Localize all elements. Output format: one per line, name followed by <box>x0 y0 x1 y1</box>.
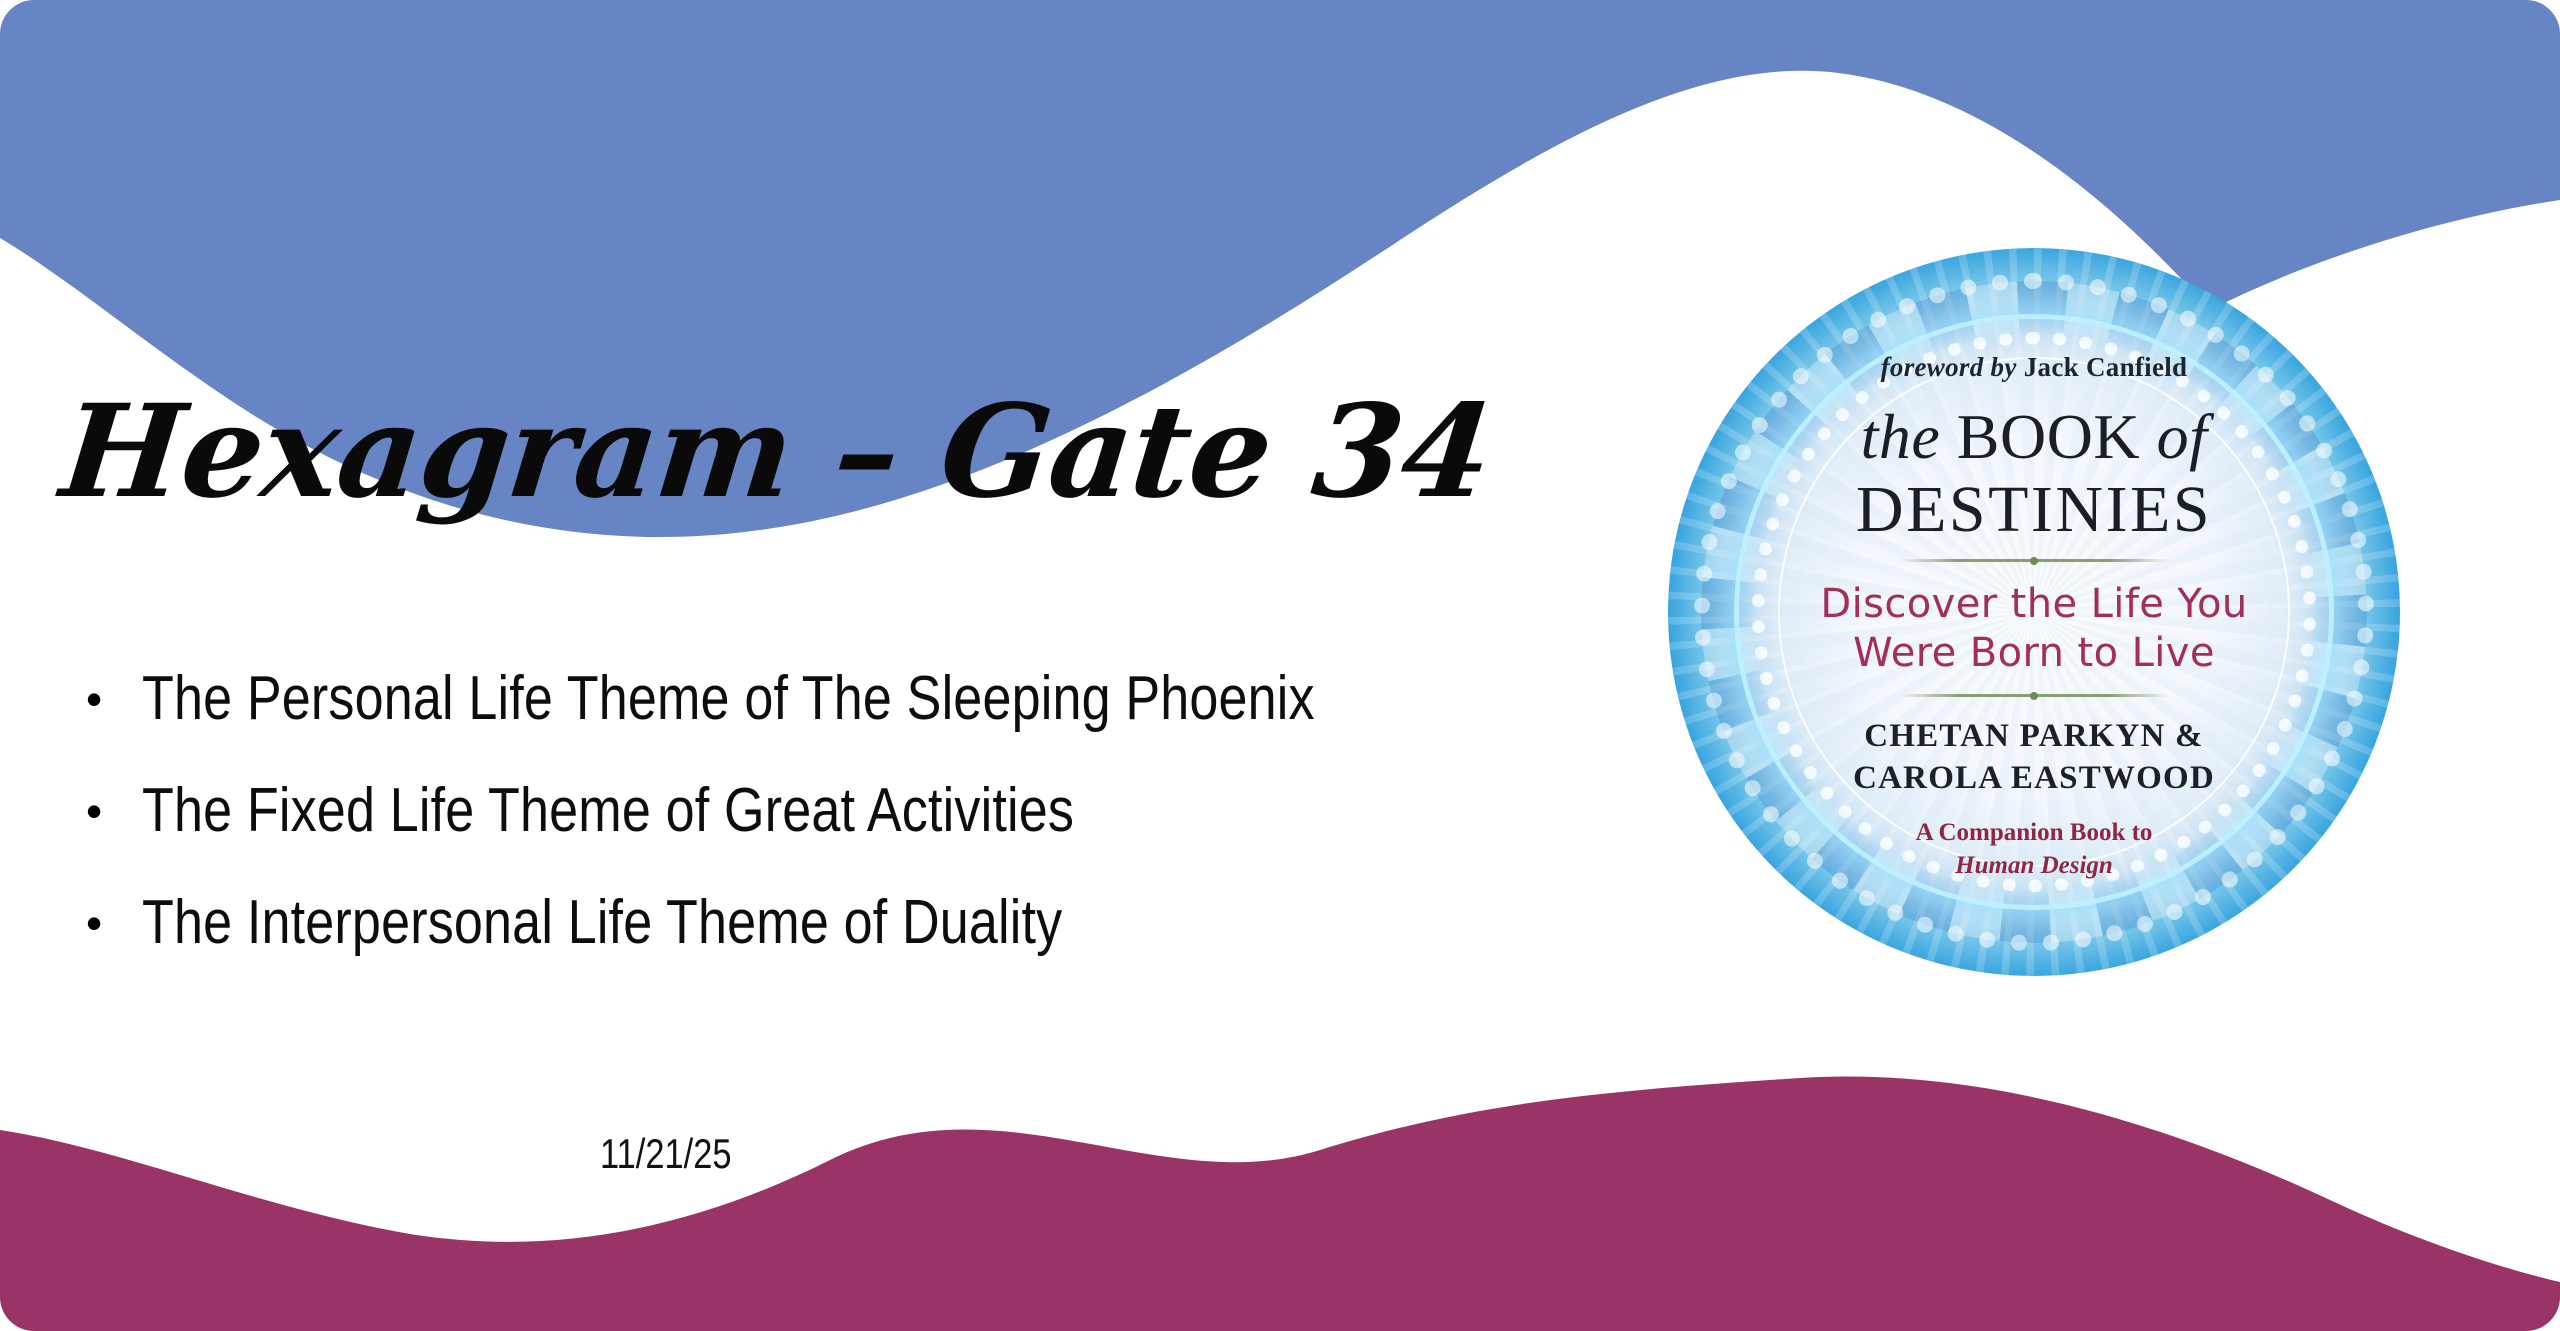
book-foreword-prefix: foreword by <box>1881 352 2017 382</box>
book-subtitle-line-2: Were Born to Live <box>1820 629 2247 678</box>
bullet-point-icon: • <box>46 884 142 962</box>
book-title-word-the: the <box>1861 401 1941 472</box>
list-item: • The Fixed Life Theme of Great Activiti… <box>46 772 1646 884</box>
bullet-point-icon: • <box>46 772 142 850</box>
book-subtitle-line-1: Discover the Life You <box>1820 580 2247 629</box>
book-authors: CHETAN PARKYN & CAROLA EASTWOOD <box>1853 715 2215 799</box>
list-item: • The Interpersonal Life Theme of Dualit… <box>46 884 1646 996</box>
book-foreword-author: Jack Canfield <box>2024 352 2188 382</box>
bullet-list: • The Personal Life Theme of The Sleepin… <box>46 660 1646 996</box>
bullet-point-icon: • <box>46 660 142 738</box>
book-author-line-2: CAROLA EASTWOOD <box>1853 757 2215 799</box>
book-companion-note: A Companion Book to Human Design <box>1916 817 2153 882</box>
bottom-magenta-wave <box>0 1077 2560 1331</box>
book-author-line-1: CHETAN PARKYN & <box>1853 715 2215 757</box>
list-item-label: The Personal Life Theme of The Sleeping … <box>142 660 1405 738</box>
book-cover-image: foreword by Jack Canfield the BOOK of DE… <box>1668 248 2400 976</box>
book-companion-line-2: Human Design <box>1916 850 2153 883</box>
book-subtitle: Discover the Life You Were Born to Live <box>1820 580 2247 678</box>
book-foreword-line: foreword by Jack Canfield <box>1881 352 2188 383</box>
slide-date: 11/21/25 <box>600 1130 732 1178</box>
list-item-label: The Fixed Life Theme of Great Activities <box>142 772 1405 850</box>
page-title: Hexagram – Gate 34 <box>51 388 1350 568</box>
book-divider-rule-bottom <box>1899 694 2169 697</box>
book-divider-rule-top <box>1899 559 2169 562</box>
list-item-label: The Interpersonal Life Theme of Duality <box>142 884 1405 962</box>
list-item: • The Personal Life Theme of The Sleepin… <box>46 660 1646 772</box>
book-title-word-book: BOOK <box>1940 401 2156 472</box>
book-title-word-of: of <box>2157 401 2208 472</box>
book-companion-line-1: A Companion Book to <box>1916 817 2153 850</box>
slide-canvas: Hexagram – Gate 34 • The Personal Life T… <box>0 0 2560 1331</box>
book-title-line-1: the BOOK of <box>1861 405 2208 469</box>
book-cover-text-block: foreword by Jack Canfield the BOOK of DE… <box>1668 248 2400 976</box>
book-title-line-2: DESTINIES <box>1856 477 2212 543</box>
